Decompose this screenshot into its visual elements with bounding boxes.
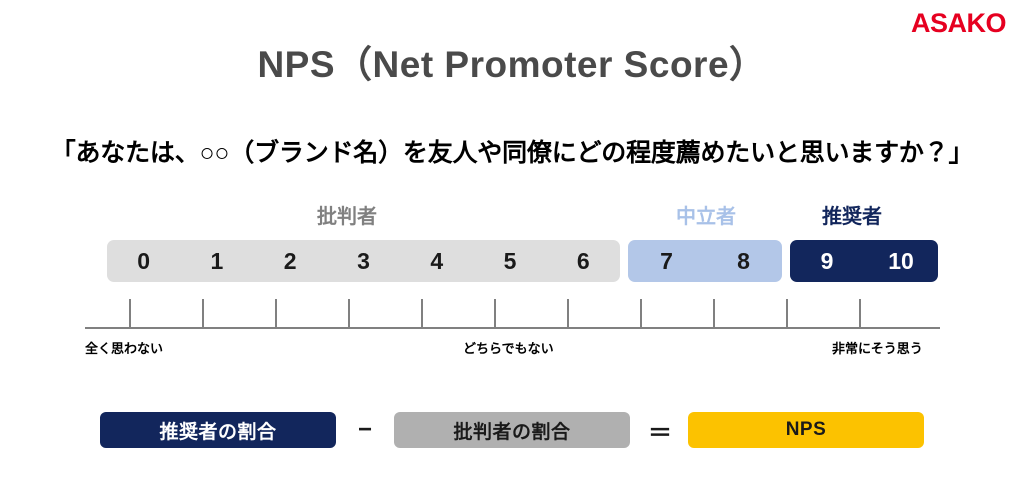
category-label-passive: 中立者 <box>676 200 736 229</box>
axis-tick-9 <box>786 299 788 327</box>
scale-axis <box>85 289 940 335</box>
axis-tick-3 <box>348 299 350 327</box>
score-value-0[interactable]: 0 <box>107 250 180 273</box>
axis-tick-4 <box>421 299 423 327</box>
score-value-1[interactable]: 1 <box>180 250 253 273</box>
score-value-2[interactable]: 2 <box>254 250 327 273</box>
formula-promoter-pill: 推奨者の割合 <box>100 412 336 448</box>
score-value-3[interactable]: 3 <box>327 250 400 273</box>
page-title: NPS（Net Promoter Score） <box>0 34 1024 88</box>
axis-tick-7 <box>640 299 642 327</box>
formula-equals-operator: ＝ <box>648 413 670 448</box>
axis-tick-6 <box>567 299 569 327</box>
formula-result-pill: NPS <box>688 412 924 448</box>
nps-scale: 批判者 中立者 推奨者 0 1 2 3 4 5 6 7 8 9 10 <box>85 200 940 360</box>
formula-detractor-pill: 批判者の割合 <box>394 412 630 448</box>
anchor-label-middle: どちらでもない <box>463 338 554 357</box>
axis-anchor-labels: 全く思わない どちらでもない 非常にそう思う <box>85 338 940 360</box>
axis-tick-1 <box>202 299 204 327</box>
category-label-promoter: 推奨者 <box>822 200 882 229</box>
axis-tick-0 <box>129 299 131 327</box>
axis-tick-2 <box>275 299 277 327</box>
formula-minus-operator: − <box>354 416 376 444</box>
score-value-4[interactable]: 4 <box>400 250 473 273</box>
score-value-5[interactable]: 5 <box>473 250 546 273</box>
score-value-7[interactable]: 7 <box>628 250 705 273</box>
score-segment-promoter[interactable]: 9 10 <box>790 240 938 282</box>
score-segment-passive[interactable]: 7 8 <box>628 240 782 282</box>
axis-tick-5 <box>494 299 496 327</box>
axis-tick-10 <box>859 299 861 327</box>
axis-tick-8 <box>713 299 715 327</box>
axis-line <box>85 327 940 329</box>
anchor-label-right: 非常にそう思う <box>832 338 923 357</box>
nps-formula: 推奨者の割合 − 批判者の割合 ＝ NPS <box>0 412 1024 448</box>
score-value-9[interactable]: 9 <box>790 250 864 273</box>
category-labels: 批判者 中立者 推奨者 <box>85 200 940 232</box>
score-bar: 0 1 2 3 4 5 6 7 8 9 10 <box>85 240 940 282</box>
anchor-label-left: 全く思わない <box>85 338 163 357</box>
score-value-6[interactable]: 6 <box>547 250 620 273</box>
category-label-detractor: 批判者 <box>317 200 377 229</box>
score-segment-detractor[interactable]: 0 1 2 3 4 5 6 <box>107 240 620 282</box>
score-value-8[interactable]: 8 <box>705 250 782 273</box>
score-value-10[interactable]: 10 <box>864 250 938 273</box>
survey-question: 「あなたは、○○（ブランド名）を友人や同僚にどの程度薦めたいと思いますか？」 <box>0 133 1024 169</box>
